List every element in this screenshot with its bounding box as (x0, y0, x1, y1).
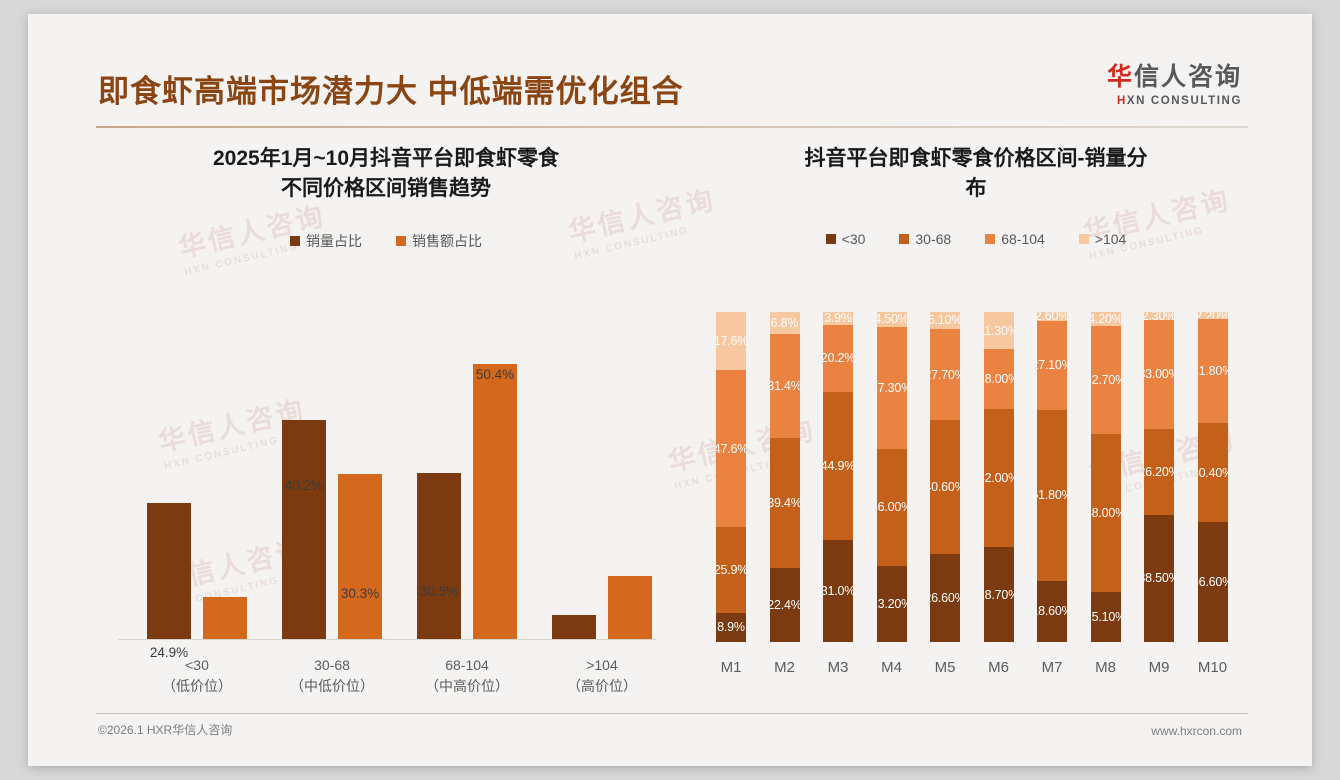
legend-label: 30-68 (915, 231, 951, 247)
segment-value-label: 27.10% (1037, 358, 1067, 372)
segment-value-label: 8.9% (717, 620, 745, 634)
stacked-segment[interactable]: 36.00% (877, 449, 907, 567)
segment-value-label: 31.4% (770, 379, 800, 393)
legend-item[interactable]: 销售额占比 (396, 231, 482, 251)
bar-item[interactable]: 50.4% (473, 364, 517, 639)
stacked-segment[interactable]: 28.70% (984, 547, 1014, 642)
stacked-segment[interactable]: 4.50% (877, 312, 907, 327)
segment-value-label: 3.9% (824, 312, 852, 325)
segment-value-label: 26.20% (1144, 465, 1174, 479)
segment-value-label: 18.00% (984, 372, 1014, 386)
segment-value-label: 6.8% (771, 316, 799, 330)
category-label-sub: （中高价位） (392, 676, 542, 696)
left-chart-title-line1: 2025年1月~10月抖音平台即食虾零食 (124, 144, 648, 174)
legend-item[interactable]: <30 (826, 231, 866, 247)
bar[interactable] (552, 615, 596, 639)
bar-group: 30.5%50.4% (402, 329, 532, 639)
stacked-segment[interactable]: 6.8% (770, 312, 800, 334)
legend-label: <30 (842, 231, 866, 247)
segment-value-label: 40.60% (930, 480, 960, 494)
category-label-sub: （高价位） (527, 676, 677, 696)
bar[interactable] (338, 474, 382, 639)
left-chart-title-line2: 不同价格区间销售趋势 (124, 174, 648, 204)
stacked-segment[interactable]: 51.80% (1037, 410, 1067, 581)
stacked-bar[interactable]: 3.9%20.2%44.9%31.0% (823, 312, 853, 642)
segment-value-label: 2.60% (1037, 312, 1067, 321)
bar-item[interactable]: 11.5% (608, 576, 652, 639)
stacked-bar[interactable]: 2.20%31.80%30.40%36.60% (1198, 312, 1228, 642)
legend-swatch-icon (290, 236, 300, 246)
stacked-segment[interactable]: 22.4% (770, 568, 800, 642)
stacked-segment[interactable]: 42.00% (984, 409, 1014, 548)
category-label-main: 68-104 (445, 657, 489, 673)
bar-item[interactable]: 30.3% (338, 474, 382, 639)
stacked-segment[interactable]: 8.9% (716, 613, 746, 642)
stacked-segment[interactable]: 5.10% (930, 312, 960, 329)
month-label: M8 (1076, 659, 1136, 676)
page-title: 即食虾高端市场潜力大 中低端需优化组合 (98, 66, 684, 111)
legend-swatch-icon (1079, 234, 1089, 244)
stacked-segment[interactable]: 26.60% (930, 554, 960, 642)
stacked-segment[interactable]: 17.6% (716, 312, 746, 370)
right-chart-title-line2: 布 (726, 174, 1226, 204)
segment-value-label: 4.50% (877, 312, 907, 326)
company-logo: 华信人咨询 HXN CONSULTING (1107, 64, 1242, 107)
right-chart-plot: 17.6%47.6%25.9%8.9%M16.8%31.4%39.4%22.4%… (698, 312, 1254, 704)
stacked-segment[interactable]: 31.4% (770, 334, 800, 438)
logo-en-rest: XN CONSULTING (1127, 95, 1242, 107)
segment-value-label: 28.70% (984, 588, 1014, 602)
stacked-segment[interactable]: 2.60% (1037, 312, 1067, 321)
legend-swatch-icon (826, 234, 836, 244)
segment-value-label: 30.40% (1198, 466, 1228, 480)
bar-group: 24.9%7.7% (132, 329, 262, 639)
logo-rest-chars: 信人咨询 (1134, 63, 1242, 91)
bar-item[interactable]: 24.9% (147, 503, 191, 639)
stacked-bar[interactable]: 11.30%18.00%42.00%28.70% (984, 312, 1014, 642)
left-chart-plot: 24.9%7.7%<30（低价位）40.2%30.3%30-68（中低价位）30… (96, 312, 676, 704)
stacked-segment[interactable]: 18.00% (984, 349, 1014, 408)
stacked-segment[interactable]: 33.00% (1144, 320, 1174, 429)
segment-value-label: 27.70% (930, 368, 960, 382)
right-chart-title-line1: 抖音平台即食虾零食价格区间-销量分 (726, 144, 1226, 174)
legend-label: 68-104 (1001, 231, 1045, 247)
stacked-segment[interactable]: 39.4% (770, 438, 800, 568)
stacked-segment[interactable]: 32.70% (1091, 326, 1121, 434)
category-label-main: >104 (586, 657, 618, 673)
legend-label: >104 (1095, 231, 1127, 247)
stacked-segment[interactable]: 27.70% (930, 329, 960, 420)
left-chart-title: 2025年1月~10月抖音平台即食虾零食 不同价格区间销售趋势 (96, 144, 676, 205)
stacked-segment[interactable]: 2.20% (1198, 312, 1228, 319)
bar[interactable] (147, 503, 191, 639)
left-chart-panel: 2025年1月~10月抖音平台即食虾零食 不同价格区间销售趋势 销量占比销售额占… (96, 144, 676, 704)
category-label: 68-104（中高价位） (392, 655, 542, 696)
stacked-bar[interactable]: 2.30%33.00%26.20%38.50% (1144, 312, 1174, 642)
segment-value-label: 42.00% (984, 471, 1014, 485)
bar-value-label: 40.2% (285, 478, 323, 493)
bar[interactable] (203, 597, 247, 639)
stacked-segment[interactable]: 31.80% (1198, 319, 1228, 423)
segment-value-label: 15.10% (1091, 610, 1121, 624)
month-label: M9 (1129, 659, 1189, 676)
category-label: <30（低价位） (122, 655, 272, 696)
month-label: M3 (808, 659, 868, 676)
category-label-sub: （低价位） (122, 676, 272, 696)
logo-en-accent: H (1117, 95, 1127, 107)
legend-swatch-icon (985, 234, 995, 244)
category-label: >104（高价位） (527, 655, 677, 696)
stacked-segment[interactable]: 4.20% (1091, 312, 1121, 326)
segment-value-label: 11.30% (984, 324, 1014, 338)
logo-accent-char: 华 (1107, 63, 1134, 91)
segment-value-label: 18.60% (1037, 604, 1067, 618)
stacked-segment[interactable]: 38.50% (1144, 515, 1174, 642)
stacked-segment[interactable]: 36.60% (1198, 522, 1228, 642)
segment-value-label: 22.4% (770, 598, 800, 612)
stacked-segment[interactable]: 47.6% (716, 370, 746, 527)
bar-group: 40.2%30.3% (267, 329, 397, 639)
stacked-segment[interactable]: 3.9% (823, 312, 853, 325)
bar[interactable] (608, 576, 652, 639)
right-chart-legend: <3030-6868-104>104 (698, 231, 1254, 247)
month-label: M1 (701, 659, 761, 676)
footer-copyright: ©2026.1 HXR华信人咨询 (98, 721, 232, 738)
legend-item[interactable]: >104 (1079, 231, 1127, 247)
segment-value-label: 2.30% (1144, 312, 1174, 320)
segment-value-label: 25.9% (716, 563, 746, 577)
segment-value-label: 4.20% (1091, 312, 1121, 326)
segment-value-label: 36.60% (1198, 575, 1228, 589)
segment-value-label: 17.6% (716, 334, 746, 348)
bar[interactable] (473, 364, 517, 639)
stacked-segment[interactable]: 40.60% (930, 420, 960, 554)
stacked-segment[interactable]: 31.0% (823, 540, 853, 642)
legend-label: 销量占比 (306, 231, 362, 251)
bar-item[interactable]: 4.4% (552, 615, 596, 639)
slide-header: 即食虾高端市场潜力大 中低端需优化组合 华信人咨询 HXN CONSULTING (28, 14, 1312, 132)
segment-value-label: 2.20% (1198, 312, 1228, 319)
bar-value-label: 30.3% (341, 586, 379, 601)
logo-english: HXN CONSULTING (1107, 95, 1242, 107)
segment-value-label: 32.70% (1091, 373, 1121, 387)
month-label: M7 (1022, 659, 1082, 676)
segment-value-label: 39.4% (770, 496, 800, 510)
stacked-segment[interactable]: 48.00% (1091, 434, 1121, 592)
month-label: M10 (1183, 659, 1243, 676)
segment-value-label: 5.10% (930, 313, 960, 327)
segment-value-label: 31.80% (1198, 364, 1228, 378)
slide: 即食虾高端市场潜力大 中低端需优化组合 华信人咨询 HXN CONSULTING… (28, 14, 1312, 766)
left-chart-axis (118, 639, 656, 640)
segment-value-label: 23.20% (877, 597, 907, 611)
stacked-segment[interactable]: 11.30% (984, 312, 1014, 349)
footer-website: www.hxrcon.com (1151, 724, 1242, 738)
stacked-segment[interactable]: 37.30% (877, 327, 907, 449)
category-label-sub: （中低价位） (257, 676, 407, 696)
bar-value-label: 30.5% (420, 584, 458, 599)
bar-item[interactable]: 7.7% (203, 597, 247, 639)
bar-value-label: 50.4% (476, 367, 514, 382)
legend-swatch-icon (396, 236, 406, 246)
stacked-bar[interactable]: 6.8%31.4%39.4%22.4% (770, 312, 800, 642)
category-label: 30-68（中低价位） (257, 655, 407, 696)
bar-item[interactable]: 30.5% (417, 473, 461, 639)
stacked-segment[interactable]: 27.10% (1037, 321, 1067, 410)
segment-value-label: 37.30% (877, 381, 907, 395)
stacked-bar[interactable]: 4.50%37.30%36.00%23.20% (877, 312, 907, 642)
category-label-main: <30 (185, 657, 209, 673)
segment-value-label: 48.00% (1091, 506, 1121, 520)
stacked-segment[interactable]: 26.20% (1144, 429, 1174, 515)
bar-group: 4.4%11.5% (537, 329, 667, 639)
stacked-segment[interactable]: 15.10% (1091, 592, 1121, 642)
left-chart-legend: 销量占比销售额占比 (96, 231, 676, 251)
logo-chinese: 华信人咨询 (1107, 64, 1242, 92)
bar[interactable] (282, 420, 326, 639)
legend-item[interactable]: 销量占比 (290, 231, 362, 251)
right-chart-title: 抖音平台即食虾零食价格区间-销量分 布 (698, 144, 1254, 205)
segment-value-label: 51.80% (1037, 488, 1067, 502)
footer-divider (96, 713, 1248, 714)
stacked-segment[interactable]: 2.30% (1144, 312, 1174, 320)
stacked-bar[interactable]: 2.60%27.10%51.80%18.60% (1037, 312, 1067, 642)
stacked-segment[interactable]: 18.60% (1037, 581, 1067, 642)
bar-item[interactable]: 40.2% (282, 420, 326, 639)
segment-value-label: 47.6% (716, 442, 746, 456)
segment-value-label: 44.9% (823, 459, 853, 473)
legend-item[interactable]: 30-68 (899, 231, 951, 247)
bar[interactable] (417, 473, 461, 639)
segment-value-label: 36.00% (877, 500, 907, 514)
segment-value-label: 31.0% (823, 584, 853, 598)
segment-value-label: 20.2% (823, 351, 853, 365)
stacked-segment[interactable]: 30.40% (1198, 423, 1228, 522)
stacked-segment[interactable]: 20.2% (823, 325, 853, 392)
month-label: M4 (862, 659, 922, 676)
segment-value-label: 26.60% (930, 591, 960, 605)
stacked-segment[interactable]: 25.9% (716, 527, 746, 612)
stacked-bar[interactable]: 17.6%47.6%25.9%8.9% (716, 312, 746, 642)
legend-label: 销售额占比 (412, 231, 482, 251)
category-label-main: 30-68 (314, 657, 350, 673)
right-chart-panel: 抖音平台即食虾零食价格区间-销量分 布 <3030-6868-104>104 1… (698, 144, 1254, 704)
month-label: M5 (915, 659, 975, 676)
header-divider (96, 126, 1248, 128)
stacked-segment[interactable]: 44.9% (823, 392, 853, 540)
segment-value-label: 38.50% (1144, 571, 1174, 585)
stacked-bar[interactable]: 5.10%27.70%40.60%26.60% (930, 312, 960, 642)
month-label: M6 (969, 659, 1029, 676)
stacked-bar[interactable]: 4.20%32.70%48.00%15.10% (1091, 312, 1121, 642)
segment-value-label: 33.00% (1144, 367, 1174, 381)
legend-swatch-icon (899, 234, 909, 244)
month-label: M2 (755, 659, 815, 676)
legend-item[interactable]: 68-104 (985, 231, 1045, 247)
stacked-segment[interactable]: 23.20% (877, 566, 907, 642)
